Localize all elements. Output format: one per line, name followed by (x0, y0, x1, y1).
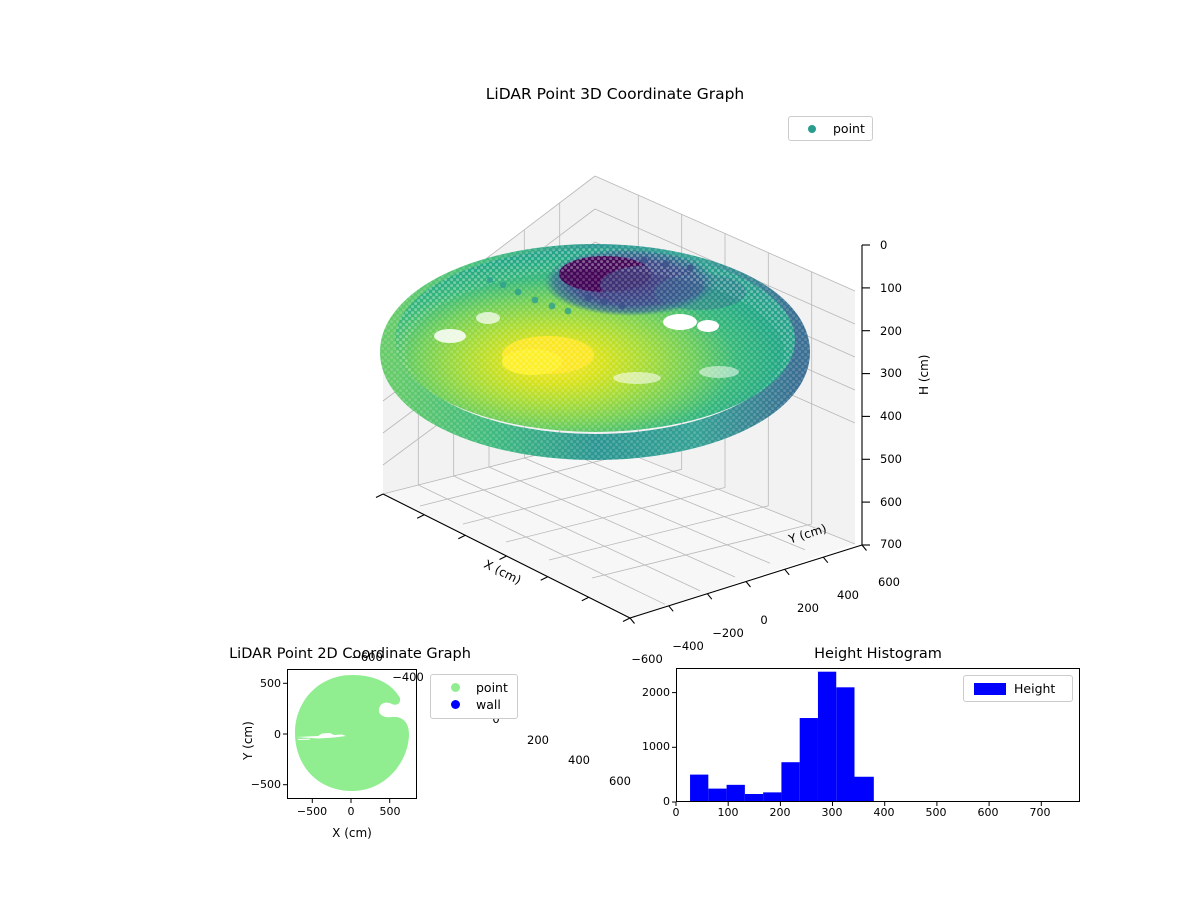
plot3d-ztick-4: 400 (880, 409, 902, 423)
plot3d-ytick-3: 0 (760, 613, 767, 627)
plot3d-ytick-0: −600 (631, 652, 663, 666)
legend-height-patch-icon (970, 683, 1010, 695)
plot2d-ticks (275, 660, 435, 825)
plot3d-ytick-6: 600 (878, 575, 900, 589)
plot2d-ytick-1: 0 (274, 728, 281, 741)
plot2d-xtick-1: 0 (348, 805, 355, 818)
legend-wall-label: wall (472, 697, 501, 712)
histogram-xtick-4: 400 (874, 806, 895, 819)
histogram-ytick-1: 1000 (642, 740, 670, 753)
plot2d-ytick-2: −500 (251, 778, 281, 791)
plot3d-ytick-5: 400 (837, 588, 859, 602)
plot3d-ytick-4: 200 (797, 601, 819, 615)
plot3d-ztick-3: 300 (880, 366, 902, 380)
plot3d-zlabel: H (cm) (917, 355, 931, 396)
plot3d-ztick-1: 100 (880, 281, 902, 295)
histogram-xtick-6: 600 (978, 806, 999, 819)
plot3d-xtick-4: 200 (527, 733, 549, 747)
legend-point-label: point (472, 680, 508, 695)
plot3d-ztick-2: 200 (880, 324, 902, 338)
legend-item-wall[interactable]: wall (438, 696, 510, 713)
legend-point-marker-icon (795, 125, 829, 133)
figure-canvas: LiDAR Point 3D Coordinate Graph point (0, 0, 1200, 900)
legend-height-label: Height (1010, 681, 1055, 696)
plot3d-ztick-6: 600 (880, 495, 902, 509)
legend-wall-marker-icon (438, 700, 472, 709)
plot3d-xtick-6: 600 (609, 774, 631, 788)
plot3d-canvas (300, 140, 920, 620)
histogram-xtick-1: 100 (718, 806, 739, 819)
plot3d-xtick-5: 400 (568, 753, 590, 767)
plot3d-ytick-2: −200 (712, 626, 744, 640)
plot2d-xtick-2: 500 (380, 805, 401, 818)
plot2d-ytick-0: 500 (260, 677, 281, 690)
plot3d-axes[interactable]: −600 −400 −200 0 200 400 600 X (cm) −600… (300, 140, 920, 620)
histogram-ytick-2: 2000 (642, 686, 670, 699)
histogram-xtick-7: 700 (1030, 806, 1051, 819)
legend-point-marker-icon (438, 683, 472, 692)
legend-item-point[interactable]: point (438, 679, 510, 696)
histogram-xtick-3: 300 (822, 806, 843, 819)
plot2d-ylabel: Y (cm) (241, 721, 255, 760)
plot3d-title: LiDAR Point 3D Coordinate Graph (486, 85, 744, 103)
plot3d-ztick-5: 500 (880, 452, 902, 466)
plot3d-ztick-0: 0 (880, 238, 887, 252)
plot3d-legend[interactable]: point (788, 116, 873, 141)
plot3d-ytick-1: −400 (672, 639, 704, 653)
plot2d-legend[interactable]: point wall (430, 674, 518, 719)
plot2d-xtick-0: −500 (297, 805, 327, 818)
plot3d-ztick-7: 700 (880, 537, 902, 551)
histogram-xtick-0: 0 (673, 806, 680, 819)
histogram-xtick-2: 200 (770, 806, 791, 819)
histogram-legend[interactable]: Height (963, 675, 1073, 702)
histogram-xtick-5: 500 (926, 806, 947, 819)
histogram-ytick-0: 0 (663, 795, 670, 808)
legend-point-label: point (829, 121, 865, 136)
plot2d-xlabel: X (cm) (332, 826, 372, 840)
